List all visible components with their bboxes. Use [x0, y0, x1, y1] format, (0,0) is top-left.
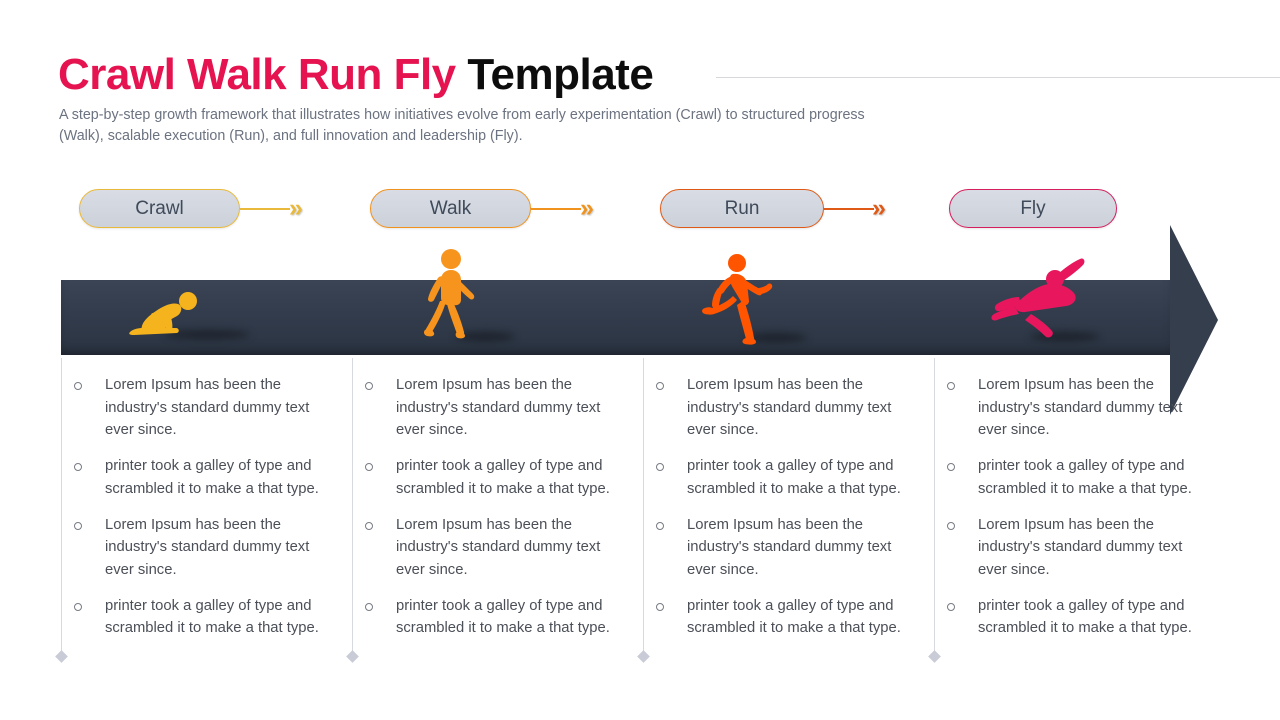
slide-canvas: Crawl Walk Run Fly Template A step-by-st…: [0, 0, 1280, 720]
double-chevron-right-icon: »: [289, 196, 299, 221]
page-subtitle: A step-by-step growth framework that ill…: [59, 105, 904, 147]
list-item: printer took a galley of type and scramb…: [654, 455, 904, 500]
column-divider-dot: [637, 650, 650, 663]
bullet-list: Lorem Ipsum has been the industry's stan…: [654, 374, 904, 640]
connector-line-run-fly: [824, 208, 874, 210]
page-title: Crawl Walk Run Fly Template: [58, 50, 653, 101]
stage-pill-walk[interactable]: Walk: [370, 189, 531, 228]
list-item: printer took a galley of type and scramb…: [945, 455, 1195, 500]
crawling-person-icon: [122, 280, 212, 345]
list-item: printer took a galley of type and scramb…: [72, 455, 322, 500]
title-divider-rule: [716, 77, 1280, 78]
column-divider: [61, 358, 62, 656]
column-divider: [934, 358, 935, 656]
stage-content-crawl: Lorem Ipsum has been the industry's stan…: [72, 374, 322, 640]
column-divider: [352, 358, 353, 656]
running-person-icon: [700, 252, 780, 357]
connector-line-walk-run: [531, 208, 581, 210]
bullet-list: Lorem Ipsum has been the industry's stan…: [72, 374, 322, 640]
connector-line-crawl-walk: [240, 208, 290, 210]
stage-content-run: Lorem Ipsum has been the industry's stan…: [654, 374, 904, 640]
list-item: Lorem Ipsum has been the industry's stan…: [945, 514, 1195, 582]
stage-pill-walk-label: Walk: [430, 198, 472, 220]
stage-content-fly: Lorem Ipsum has been the industry's stan…: [945, 374, 1195, 640]
stage-pill-run[interactable]: Run: [660, 189, 824, 228]
stage-pill-run-label: Run: [725, 198, 760, 220]
page-title-accent: Crawl Walk Run Fly: [58, 50, 456, 99]
list-item: Lorem Ipsum has been the industry's stan…: [654, 514, 904, 582]
stage-pill-crawl-label: Crawl: [135, 198, 184, 220]
list-item: Lorem Ipsum has been the industry's stan…: [363, 374, 613, 442]
column-divider-dot: [928, 650, 941, 663]
bullet-list: Lorem Ipsum has been the industry's stan…: [945, 374, 1195, 640]
list-item: Lorem Ipsum has been the industry's stan…: [72, 374, 322, 442]
list-item: printer took a galley of type and scramb…: [363, 595, 613, 640]
list-item: printer took a galley of type and scramb…: [363, 455, 613, 500]
list-item: printer took a galley of type and scramb…: [945, 595, 1195, 640]
list-item: printer took a galley of type and scramb…: [72, 595, 322, 640]
list-item: printer took a galley of type and scramb…: [654, 595, 904, 640]
stage-pill-fly[interactable]: Fly: [949, 189, 1117, 228]
list-item: Lorem Ipsum has been the industry's stan…: [363, 514, 613, 582]
stage-content-walk: Lorem Ipsum has been the industry's stan…: [363, 374, 613, 640]
stage-pill-crawl[interactable]: Crawl: [79, 189, 240, 228]
walking-person-icon: [424, 248, 484, 353]
column-divider: [643, 358, 644, 656]
list-item: Lorem Ipsum has been the industry's stan…: [72, 514, 322, 582]
double-chevron-right-icon: »: [580, 196, 590, 221]
list-item: Lorem Ipsum has been the industry's stan…: [654, 374, 904, 442]
flying-person-icon: [985, 255, 1090, 350]
page-title-plain: Template: [467, 50, 653, 99]
column-divider-dot: [346, 650, 359, 663]
stage-pill-fly-label: Fly: [1020, 198, 1045, 220]
bullet-list: Lorem Ipsum has been the industry's stan…: [363, 374, 613, 640]
column-divider-dot: [55, 650, 68, 663]
double-chevron-right-icon: »: [872, 196, 882, 221]
list-item: Lorem Ipsum has been the industry's stan…: [945, 374, 1195, 442]
